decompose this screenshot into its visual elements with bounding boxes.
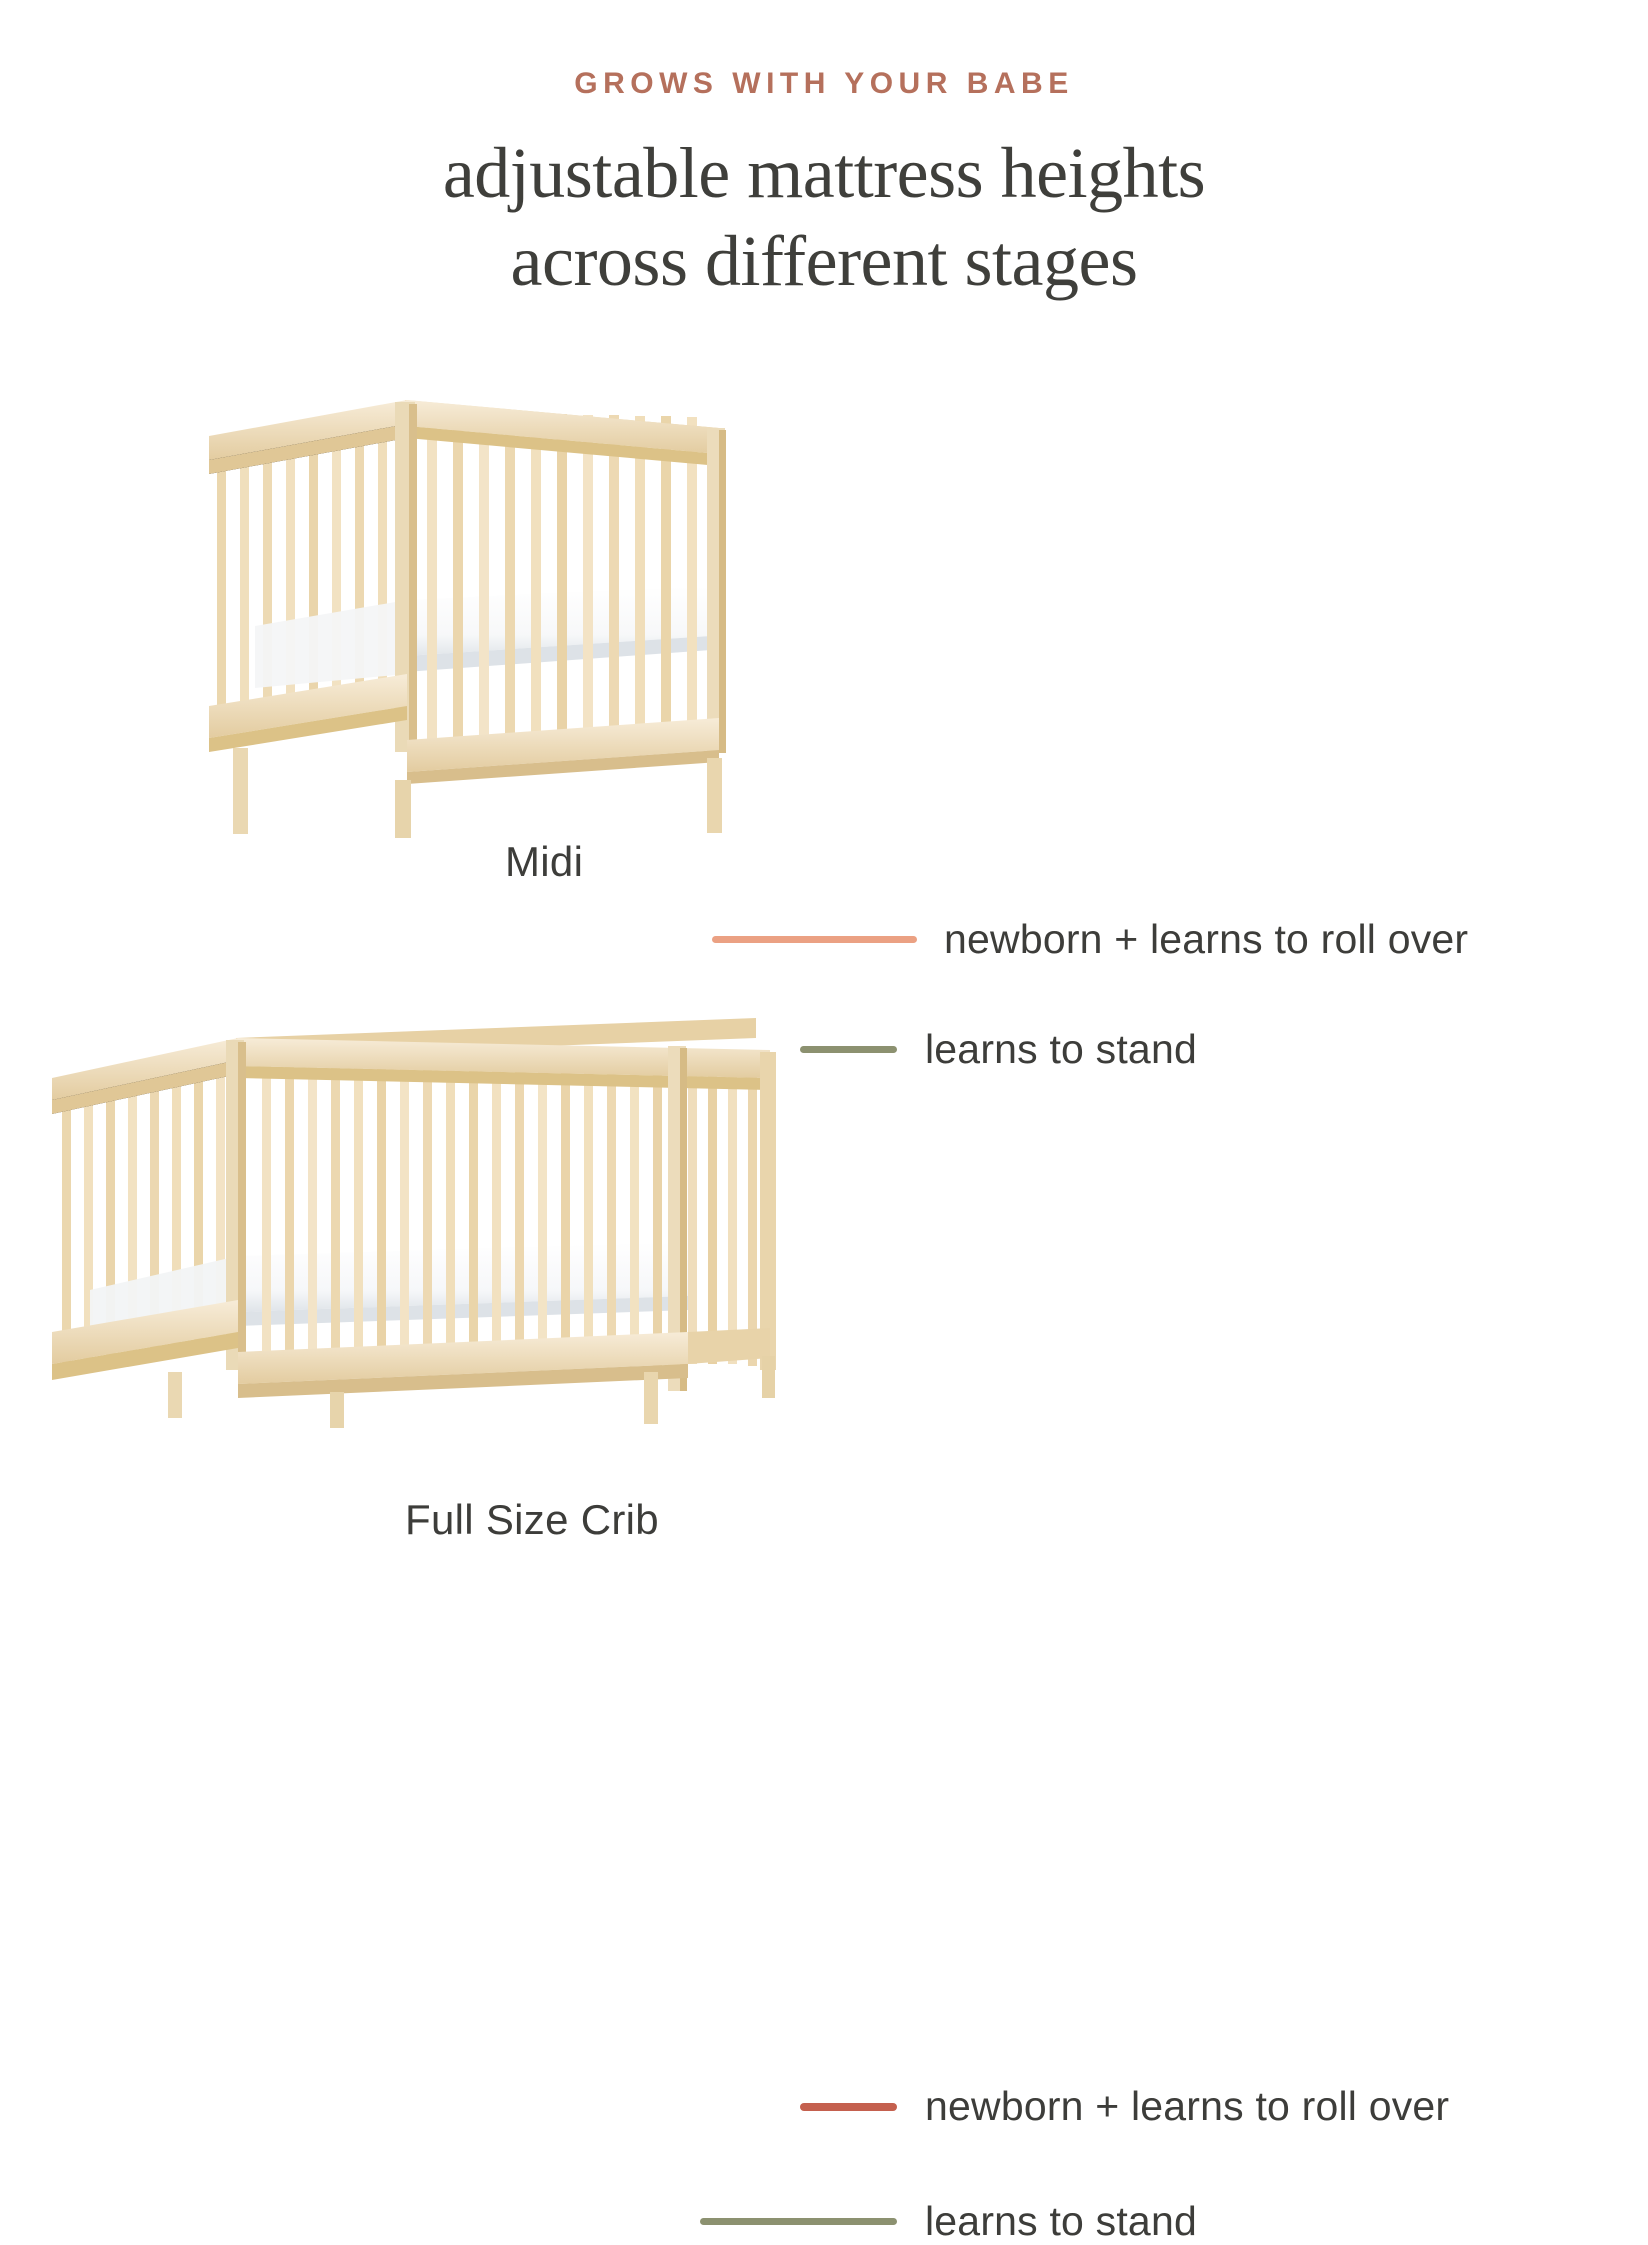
headline-line-2: across different stages bbox=[0, 218, 1648, 306]
crib-midi-svg bbox=[195, 388, 755, 838]
annotation-label: newborn + learns to roll over bbox=[925, 2083, 1449, 2130]
section-full-size: newborn + learns to roll over learns to … bbox=[0, 950, 1648, 1510]
annotation-label: learns to stand bbox=[925, 2198, 1197, 2245]
leader-line bbox=[700, 2218, 897, 2225]
eyebrow-text: GROWS WITH YOUR BABE bbox=[0, 66, 1648, 102]
crib-right-bottom-rail bbox=[688, 1328, 770, 1364]
crib-leg-center bbox=[395, 780, 411, 838]
crib-right-end-slats bbox=[688, 1060, 757, 1366]
crib-leg-center-front bbox=[330, 1392, 344, 1428]
crib-full-svg bbox=[40, 960, 780, 1430]
caption-full-size: Full Size Crib bbox=[405, 1496, 659, 1544]
leader-line bbox=[800, 2103, 897, 2111]
crib-full-size-illustration bbox=[40, 960, 780, 1430]
leader-line bbox=[712, 936, 917, 943]
header: GROWS WITH YOUR BABE adjustable mattress… bbox=[0, 0, 1648, 306]
page-title: adjustable mattress heights across diffe… bbox=[0, 130, 1648, 306]
crib-leg-right-front bbox=[644, 1372, 658, 1424]
caption-midi: Midi bbox=[505, 838, 583, 886]
annotation-full-stand: learns to stand bbox=[700, 2198, 1197, 2245]
crib-leg-left bbox=[168, 1372, 182, 1418]
annotation-full-newborn: newborn + learns to roll over bbox=[800, 2083, 1449, 2130]
crib-midi-illustration bbox=[195, 388, 755, 838]
crib-leg-left bbox=[233, 748, 248, 834]
section-midi: newborn + learns to roll over learns to … bbox=[0, 360, 1648, 900]
headline-line-1: adjustable mattress heights bbox=[0, 130, 1648, 218]
crib-leg-far bbox=[762, 1356, 775, 1398]
crib-far-post bbox=[760, 1052, 776, 1370]
crib-leg-right bbox=[707, 758, 722, 833]
